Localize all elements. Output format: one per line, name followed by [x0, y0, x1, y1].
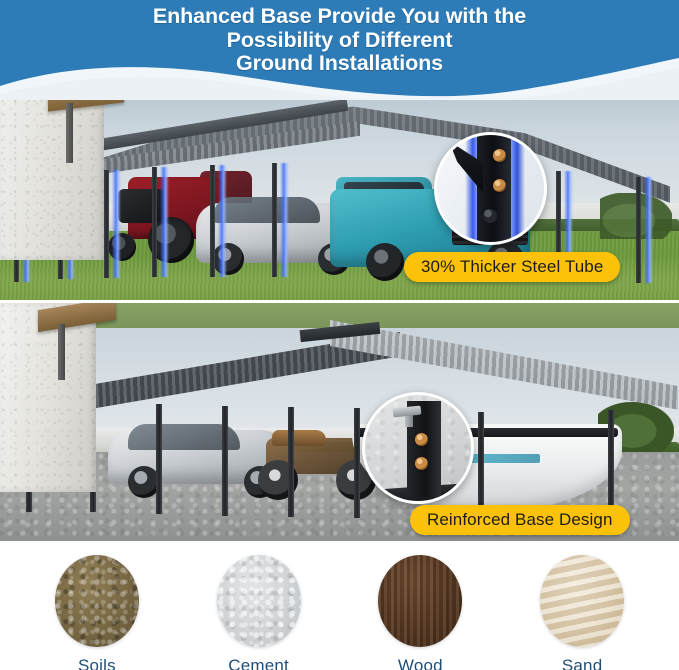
cement-texture-swatch [217, 555, 301, 647]
bolt-icon [493, 179, 506, 192]
post-glow-highlight [160, 167, 169, 277]
ground-options-strip: Soils Cement Wood Sand [0, 541, 679, 670]
ground-option-wood[interactable]: Wood [345, 555, 495, 670]
badge-thicker-steel-tube: 30% Thicker Steel Tube [404, 252, 620, 282]
title-line-3: Ground Installations [28, 52, 651, 76]
post-glow-highlight [644, 177, 653, 283]
soil-texture-swatch [55, 555, 139, 647]
title-line-1: Enhanced Base Provide You with the [28, 5, 651, 29]
teal-truck-rear-wheel [366, 243, 404, 281]
carport-post [104, 170, 109, 278]
tube-blue-highlight [511, 132, 525, 245]
post-glow-highlight [218, 165, 227, 277]
post-glow-highlight [280, 163, 289, 277]
post-glow-highlight [112, 170, 121, 278]
product-feature-infographic: 30% Thicker Steel Tube Reinforced Base D… [0, 0, 679, 670]
carport-post [222, 406, 228, 516]
house-stucco-texture [0, 85, 104, 260]
badge-reinforced-base-design: Reinforced Base Design [410, 505, 630, 535]
title-line-2: Possibility of Different [28, 29, 651, 53]
house-downspout [58, 324, 65, 380]
ground-option-label: Sand [562, 656, 603, 670]
ground-option-label: Wood [398, 656, 443, 670]
carport-post [152, 167, 157, 277]
carport-post [478, 412, 484, 520]
page-title: Enhanced Base Provide You with the Possi… [0, 5, 679, 76]
silver-sedan-windows [214, 197, 320, 223]
carport-post [156, 404, 162, 514]
tractor-engine-hood [118, 189, 164, 223]
bolt-icon [415, 433, 428, 446]
fastener-knob [483, 209, 497, 223]
motorcycle-seat [272, 430, 326, 446]
carport-post [288, 407, 294, 517]
magnifier-steel-tube-detail [434, 132, 547, 245]
carport-post [210, 165, 215, 277]
bolt-icon [415, 457, 428, 470]
panel-divider [0, 300, 679, 303]
wood-texture-swatch [378, 555, 462, 647]
carport-post [354, 408, 360, 518]
carport-post [272, 163, 277, 277]
house-downspout [66, 103, 73, 163]
ground-option-cement[interactable]: Cement [184, 555, 334, 670]
ground-option-label: Cement [228, 656, 289, 670]
ground-option-label: Soils [78, 656, 116, 670]
ground-option-soils[interactable]: Soils [22, 555, 172, 670]
header-banner: Enhanced Base Provide You with the Possi… [0, 0, 679, 100]
magnifier-base-plate-detail [362, 392, 474, 504]
silver-sedan-front-wheel [212, 243, 244, 275]
carport-post [636, 177, 641, 283]
carport-post [608, 410, 614, 520]
sand-texture-swatch [540, 555, 624, 647]
ground-option-sand[interactable]: Sand [507, 555, 657, 670]
bolt-icon [493, 149, 506, 162]
